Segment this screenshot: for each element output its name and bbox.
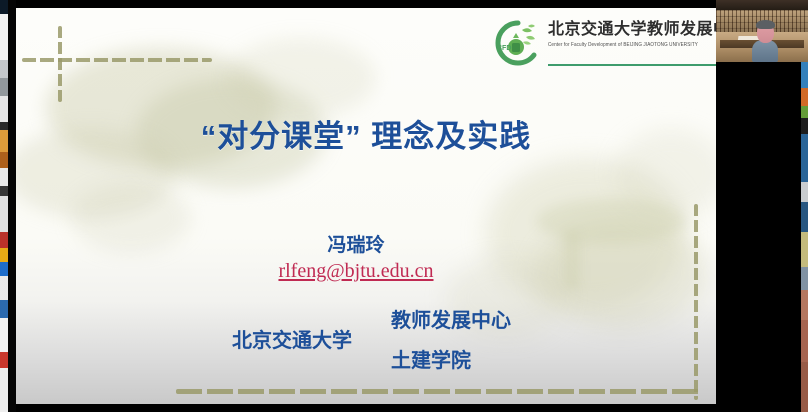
presenter-name: 冯瑞玲 [16, 230, 696, 257]
decorative-wavy-line-left [58, 26, 62, 102]
logo-underline-rule [548, 64, 716, 66]
screen-edge-letterbox-left [8, 0, 16, 412]
decorative-wavy-line-bottom [176, 389, 700, 394]
presenter-email[interactable]: rlfeng@bjtu.edu.cn [16, 260, 696, 283]
video-person-hair [756, 20, 775, 29]
svg-text:CFD: CFD [497, 45, 511, 52]
affiliation-block: 北京交通大学 教师发展中心 土建学院 [16, 304, 716, 380]
presenter-block: 冯瑞玲 rlfeng@bjtu.edu.cn [16, 230, 696, 283]
logo-chinese-title: 北京交通大学教师发展中心 [548, 20, 716, 39]
watercolor-blob [226, 38, 376, 118]
screen-share-view: CFD 北京交通大学教师发展中心 Center for Faculty Deve… [0, 0, 808, 412]
logo-english-subtitle: Center for Faculty Development of BEIJIN… [548, 41, 716, 47]
affiliation-school: 土建学院 [391, 344, 471, 373]
video-person-body [752, 40, 778, 62]
decorative-wavy-line-top [22, 58, 212, 62]
desktop-taskbar-sliver[interactable] [0, 0, 8, 412]
slide-title: “对分课堂” 理念及实践 [16, 111, 716, 156]
presenter-video-tile[interactable] [716, 0, 808, 62]
slide-canvas[interactable]: CFD 北京交通大学教师发展中心 Center for Faculty Deve… [16, 8, 716, 404]
cfd-emblem-icon: CFD [494, 20, 542, 66]
affiliation-university: 北京交通大学 [232, 324, 352, 353]
affiliation-center: 教师发展中心 [391, 304, 511, 333]
background-window-sliver-right[interactable] [801, 62, 808, 412]
cfd-logo: CFD 北京交通大学教师发展中心 Center for Faculty Deve… [494, 18, 716, 72]
logo-text-block: 北京交通大学教师发展中心 Center for Faculty Developm… [548, 20, 716, 46]
